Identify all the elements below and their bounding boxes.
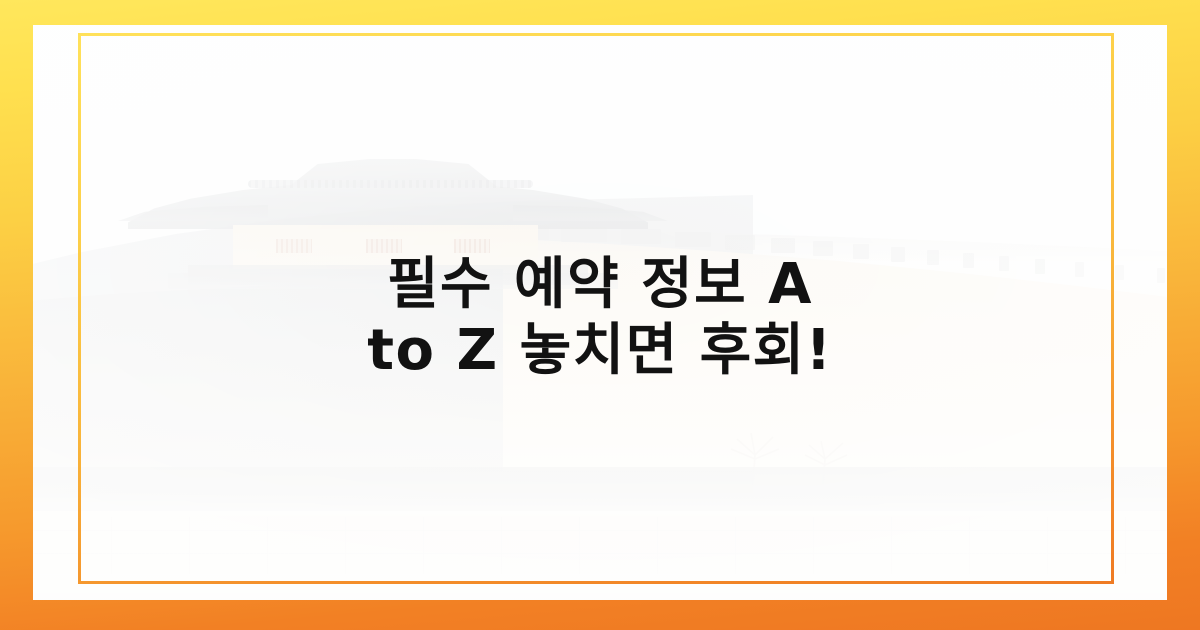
whitening-haze-overlay <box>33 25 1167 600</box>
background-photo <box>33 25 1167 600</box>
thumbnail-card: 필수 예약 정보 A to Z 놓치면 후회! <box>0 0 1200 630</box>
photo-stage <box>33 25 1167 600</box>
